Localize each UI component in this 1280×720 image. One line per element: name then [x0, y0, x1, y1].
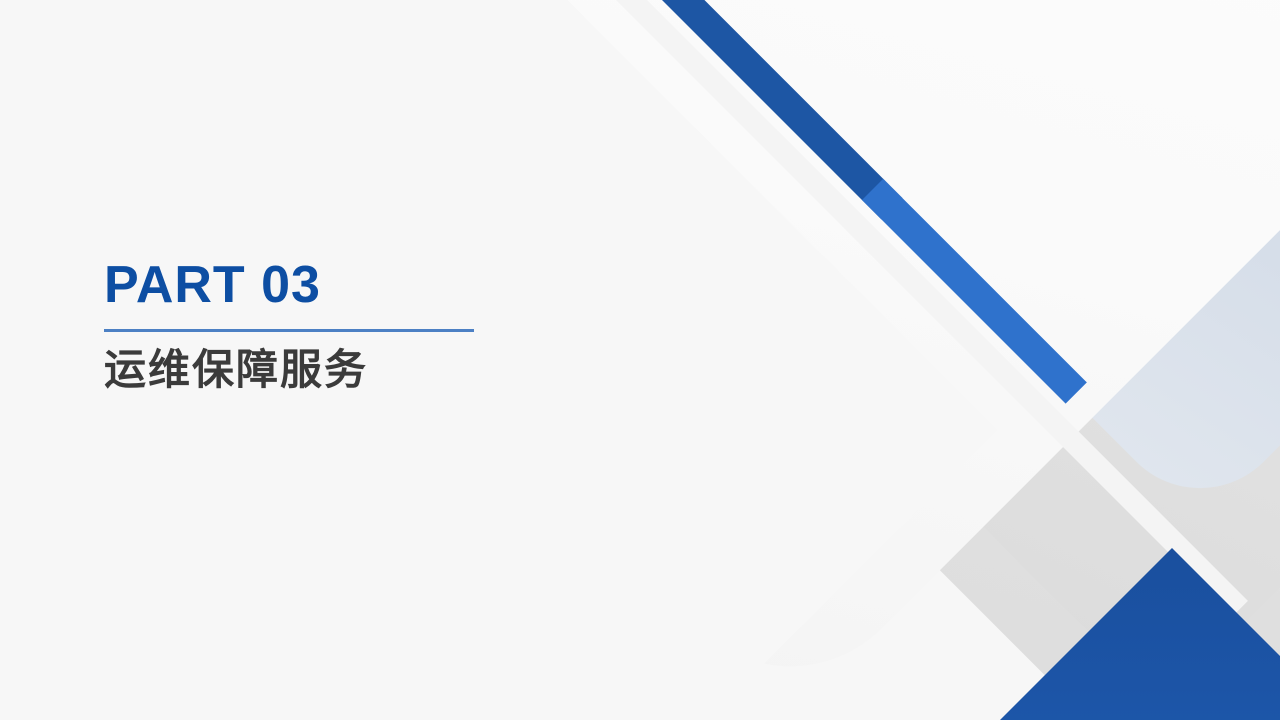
diagonal-stripe-dark-segment	[648, 0, 903, 219]
stripe-gap-shape	[596, 0, 1248, 616]
title-divider	[104, 329, 474, 332]
title-block: PART 03 运维保障服务	[104, 258, 624, 394]
diagonal-stripe-light-segment	[862, 179, 1087, 404]
blue-diamond-shape	[939, 548, 1280, 720]
light-blue-gradient-panel-shape	[663, 0, 1280, 525]
section-title: 运维保障服务	[104, 346, 624, 394]
gray-inner-panel-shape	[610, 0, 1280, 706]
gray-outer-panel-shape	[520, 0, 1280, 720]
presentation-slide: PART 03 运维保障服务	[0, 0, 1280, 720]
part-label: PART 03	[104, 258, 624, 313]
